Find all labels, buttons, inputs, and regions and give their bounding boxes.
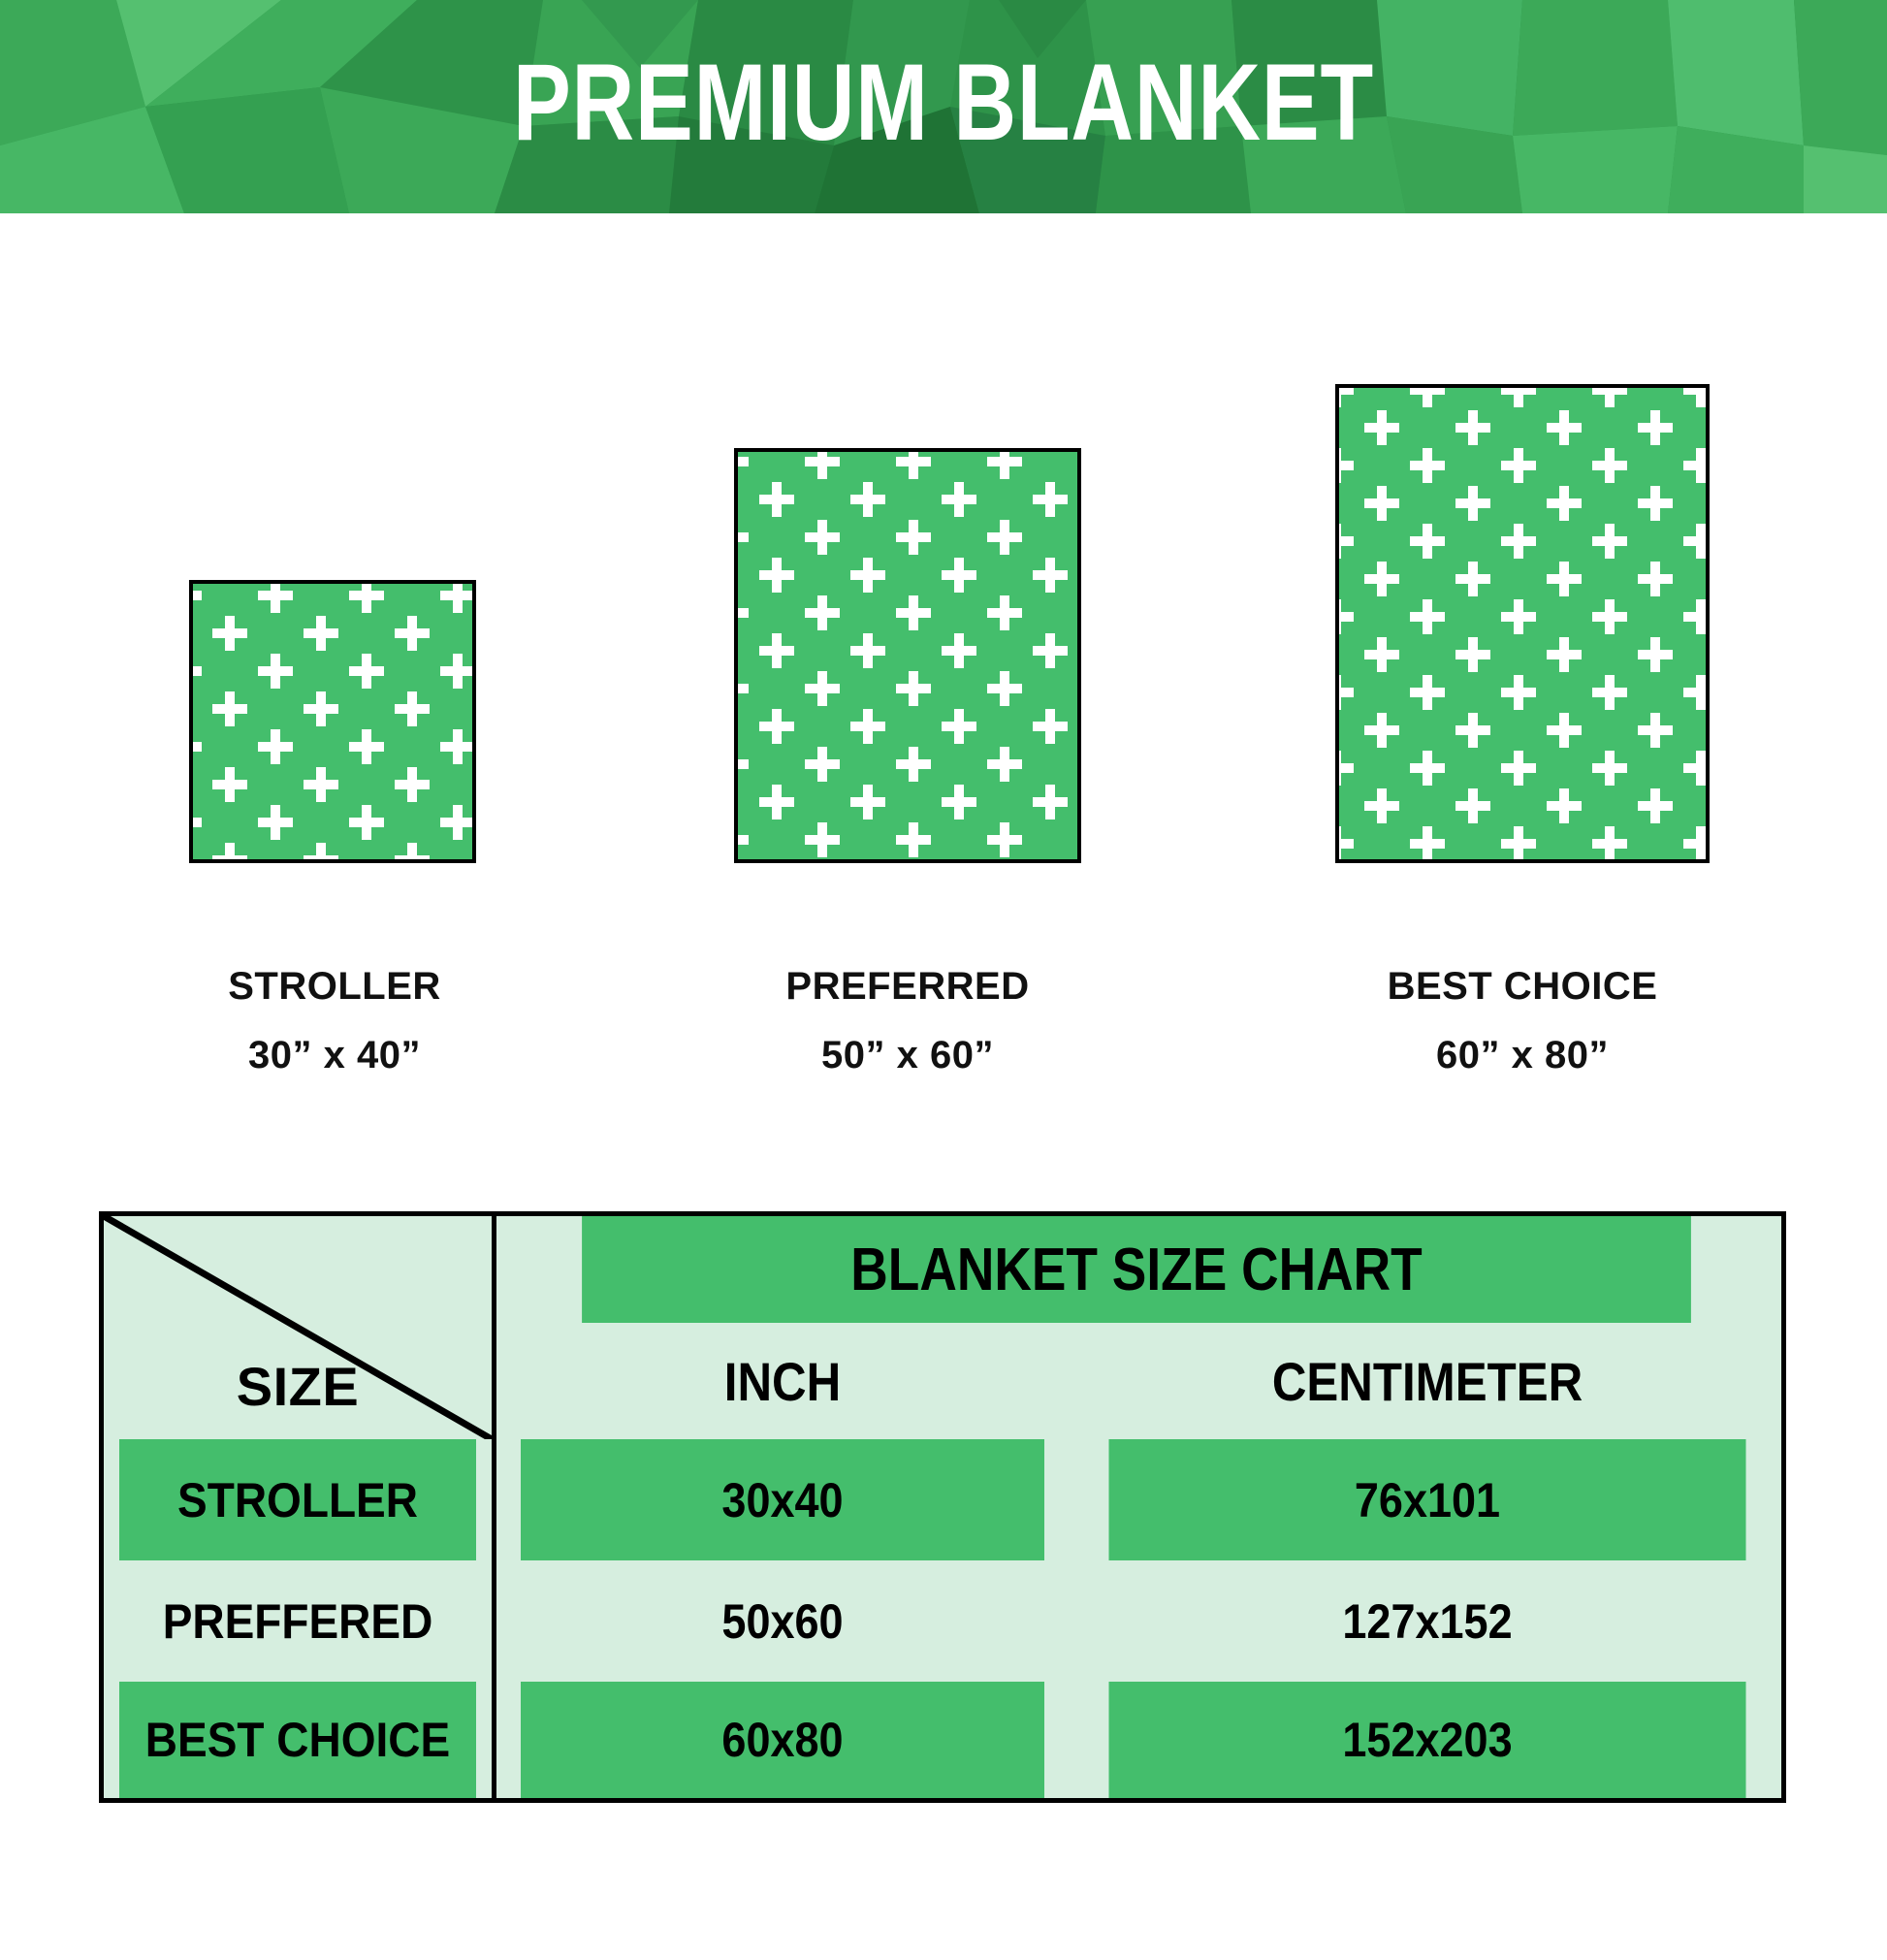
cell-cm-preffered: 127x152 (1109, 1560, 1746, 1682)
page-title: PREMIUM BLANKET (189, 0, 1699, 213)
caption-name-stroller: STROLLER (141, 965, 528, 1009)
caption-preferred: PREFERRED 50” x 60” (714, 965, 1102, 1077)
table-title-cell: BLANKET SIZE CHART (582, 1216, 1691, 1323)
table-row[interactable]: BEST CHOICE 60x80 152x203 (104, 1682, 1781, 1798)
plus-pattern-icon (1339, 388, 1706, 859)
cell-inch-stroller: 30x40 (521, 1439, 1044, 1560)
swatch-group-stroller (189, 580, 476, 863)
swatch-group-best-choice (1335, 384, 1710, 863)
caption-dims-preferred: 50” x 60” (714, 1034, 1102, 1077)
blanket-swatch-stroller[interactable] (189, 580, 476, 863)
blanket-swatch-preferred[interactable] (734, 448, 1081, 863)
caption-best-choice: BEST CHOICE 60” x 80” (1328, 965, 1716, 1077)
caption-name-best-choice: BEST CHOICE (1328, 965, 1716, 1009)
swatch-row (0, 320, 1887, 863)
size-chart-table: BLANKET SIZE CHART INCH CENTIMETER STROL… (99, 1211, 1786, 1803)
plus-pattern-icon (738, 452, 1077, 859)
plus-pattern-icon (193, 584, 472, 859)
row-label-preffered: PREFFERED (119, 1560, 476, 1682)
cell-cm-stroller: 76x101 (1109, 1439, 1746, 1560)
caption-name-preferred: PREFERRED (714, 965, 1102, 1009)
table-corner-label: SIZE (104, 1355, 492, 1418)
caption-dims-stroller: 30” x 40” (141, 1034, 528, 1077)
blanket-swatch-best-choice[interactable] (1335, 384, 1710, 863)
table-row[interactable]: PREFFERED 50x60 127x152 (104, 1560, 1781, 1682)
table-corner-cell: SIZE (104, 1216, 492, 1439)
table-row[interactable]: STROLLER 30x40 76x101 (104, 1439, 1781, 1560)
column-header-centimeter: CENTIMETER (1116, 1323, 1739, 1439)
caption-dims-best-choice: 60” x 80” (1328, 1034, 1716, 1077)
cell-cm-best-choice: 152x203 (1109, 1682, 1746, 1798)
row-label-stroller: STROLLER (119, 1439, 476, 1560)
cell-inch-best-choice: 60x80 (521, 1682, 1044, 1798)
size-chart-page: PREMIUM BLANKET (0, 0, 1887, 1960)
swatch-group-preferred (734, 448, 1081, 863)
header-banner: PREMIUM BLANKET (0, 0, 1887, 213)
cell-inch-preffered: 50x60 (521, 1560, 1044, 1682)
column-header-inch: INCH (527, 1323, 1039, 1439)
row-label-best-choice: BEST CHOICE (119, 1682, 476, 1798)
table-column-divider (492, 1216, 496, 1798)
caption-stroller: STROLLER 30” x 40” (141, 965, 528, 1077)
